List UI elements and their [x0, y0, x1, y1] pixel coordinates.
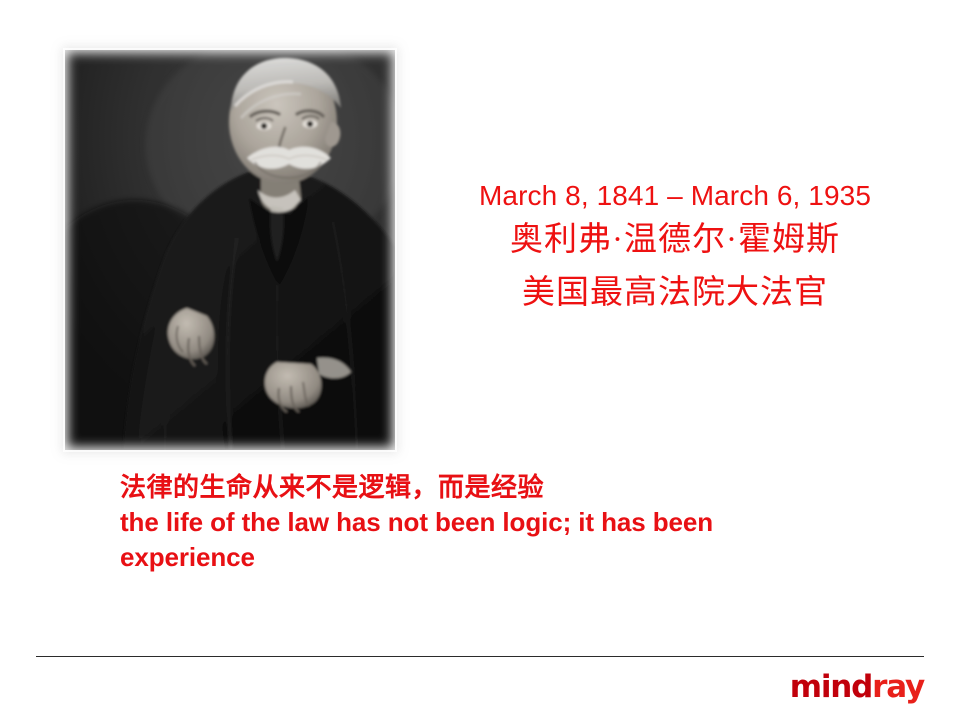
caption-block: March 8, 1841 – March 6, 1935 奥利弗·温德尔·霍姆… [420, 178, 930, 321]
person-title-cjk: 美国最高法院大法官 [420, 267, 930, 320]
slide-canvas: March 8, 1841 – March 6, 1935 奥利弗·温德尔·霍姆… [0, 0, 960, 720]
mindray-logo: mindray [790, 672, 924, 703]
mindray-logo-ray: ray [872, 669, 924, 705]
portrait-photo [65, 50, 395, 450]
lifespan-text: March 8, 1841 – March 6, 1935 [420, 178, 930, 214]
quote-block: 法律的生命从来不是逻辑，而是经验 the life of the law has… [120, 470, 930, 575]
footer-divider [36, 656, 924, 657]
quote-line-cjk: 法律的生命从来不是逻辑，而是经验 [120, 470, 930, 505]
quote-line-en-1: the life of the law has not been logic; … [120, 505, 930, 540]
quote-line-en-2: experience [120, 540, 930, 575]
person-name-cjk: 奥利弗·温德尔·霍姆斯 [420, 214, 930, 267]
mindray-logo-mind: mind [790, 669, 872, 705]
portrait-photo-frame [65, 50, 395, 450]
